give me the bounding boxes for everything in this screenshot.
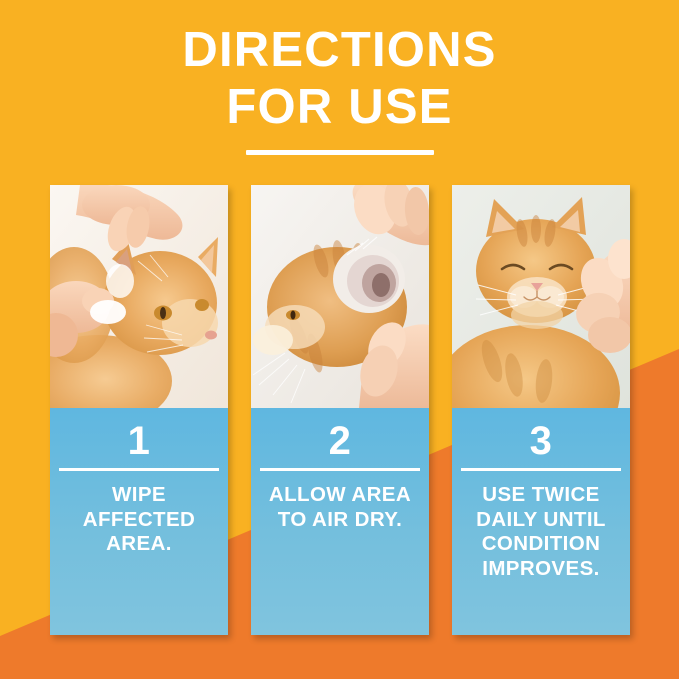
- step-number-3: 3: [460, 418, 622, 464]
- step-number-2: 2: [259, 418, 421, 464]
- step-number-1: 1: [58, 418, 220, 464]
- title-underline: [246, 150, 434, 155]
- step-caption-1: 1 WIPE AFFECTED AREA.: [50, 408, 228, 635]
- step-text-3: USE TWICE DAILY UNTIL CONDITION IMPROVES…: [460, 483, 622, 581]
- caption-divider-3: [461, 468, 621, 471]
- steps-container: 1 WIPE AFFECTED AREA.: [50, 185, 630, 635]
- caption-divider-2: [260, 468, 420, 471]
- step-card-2: 2 ALLOW AREA TO AIR DRY.: [251, 185, 429, 635]
- step-text-1: WIPE AFFECTED AREA.: [58, 483, 220, 557]
- step-photo-3: [452, 185, 630, 408]
- page-title: DIRECTIONS FOR USE: [0, 22, 679, 155]
- directions-for-use-poster: DIRECTIONS FOR USE: [0, 0, 679, 679]
- step-photo-1: [50, 185, 228, 408]
- title-line-2: FOR USE: [0, 79, 679, 136]
- step-photo-2: [251, 185, 429, 408]
- step-card-3: 3 USE TWICE DAILY UNTIL CONDITION IMPROV…: [452, 185, 630, 635]
- caption-divider-1: [59, 468, 219, 471]
- step-card-1: 1 WIPE AFFECTED AREA.: [50, 185, 228, 635]
- step-caption-3: 3 USE TWICE DAILY UNTIL CONDITION IMPROV…: [452, 408, 630, 635]
- title-line-1: DIRECTIONS: [0, 22, 679, 79]
- step-caption-2: 2 ALLOW AREA TO AIR DRY.: [251, 408, 429, 635]
- step-text-2: ALLOW AREA TO AIR DRY.: [259, 483, 421, 532]
